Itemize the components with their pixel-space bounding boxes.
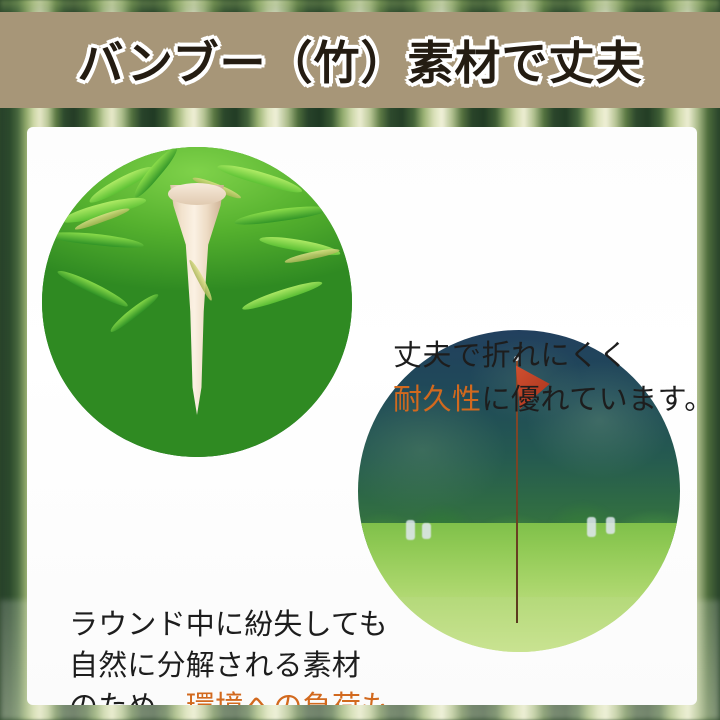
- content-card: 丈夫で折れにくく 耐久性に優れています。 ラウンド中に紛失しても 自然に分解され…: [27, 127, 697, 705]
- eco-line-2: 自然に分解される素材: [69, 646, 369, 687]
- promo-banner: バンブー（竹）素材で丈夫: [0, 0, 720, 720]
- eco-text-block: ラウンド中に紛失しても 自然に分解される素材 のため、環境への負荷も 少ないエコ…: [69, 605, 369, 705]
- eco-line-3-plain: のため、: [69, 691, 186, 705]
- durability-highlight: 耐久性: [393, 384, 482, 416]
- durability-line-1: 丈夫で折れにくく: [393, 335, 697, 379]
- eco-line-1: ラウンド中に紛失しても: [69, 605, 369, 646]
- eco-highlight-1: 環境への負荷も: [186, 691, 390, 705]
- durability-line-2: 耐久性に優れています。: [393, 379, 697, 423]
- page-title: バンブー（竹）素材で丈夫: [0, 12, 720, 108]
- eco-line-3: のため、環境への負荷も: [69, 687, 369, 705]
- bamboo-tee-photo: [42, 147, 352, 457]
- putting-green: [358, 597, 680, 652]
- distant-golfer: [606, 517, 615, 534]
- distant-golfer: [406, 520, 415, 540]
- durability-line-2-rest: に優れています。: [482, 384, 697, 416]
- distant-golfer: [587, 517, 596, 537]
- distant-golfer: [422, 523, 431, 539]
- durability-text-block: 丈夫で折れにくく 耐久性に優れています。: [393, 335, 697, 422]
- tee-cup: [168, 183, 226, 205]
